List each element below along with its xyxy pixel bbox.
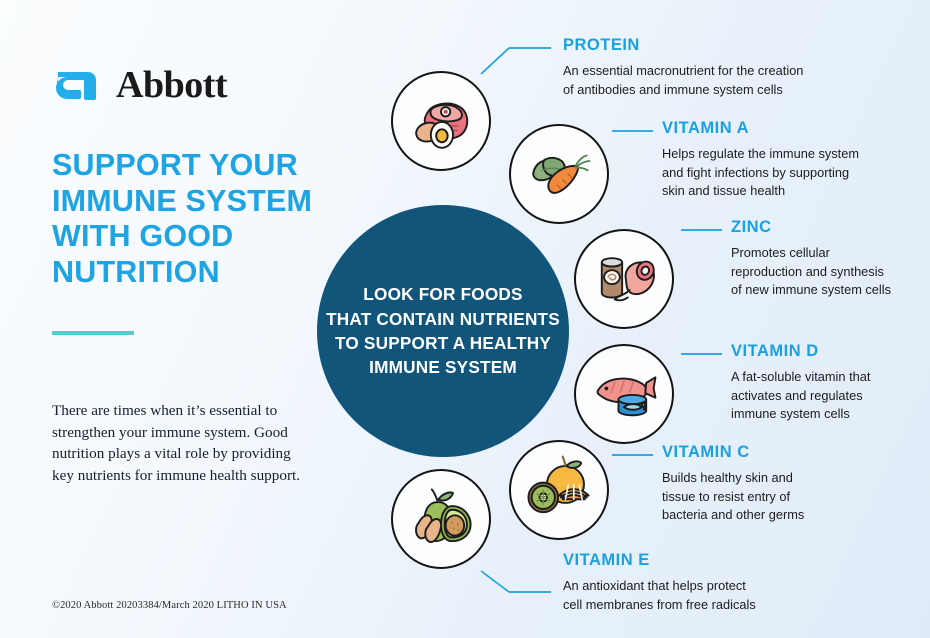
carrot-and-greens-icon xyxy=(522,137,596,211)
callout-title: VITAMIN A xyxy=(662,119,917,138)
callout-vitamin-d: VITAMIN D A fat-soluble vitamin that act… xyxy=(731,342,926,424)
nutrient-icon-zinc xyxy=(574,229,674,329)
callout-description: Helps regulate the immune system and fig… xyxy=(662,145,917,201)
steak-and-eggs-icon xyxy=(404,84,478,158)
fish-and-tuna-can-icon xyxy=(587,357,661,431)
callout-description: Promotes cellular reproduction and synth… xyxy=(731,244,926,300)
callout-title: VITAMIN E xyxy=(563,551,893,570)
callout-protein: PROTEIN An essential macronutrient for t… xyxy=(563,36,893,99)
nutrient-icon-protein xyxy=(391,71,491,171)
citrus-and-kiwi-icon xyxy=(522,453,596,527)
infographic-canvas: Abbott SUPPORT YOUR IMMUNE SYSTEM WITH G… xyxy=(0,0,930,638)
nutrient-icon-vitamin-a xyxy=(509,124,609,224)
callout-title: ZINC xyxy=(731,218,926,237)
callout-zinc: ZINC Promotes cellular reproduction and … xyxy=(731,218,926,300)
nutrient-icon-vitamin-d xyxy=(574,344,674,444)
callout-description: Builds healthy skin and tissue to resist… xyxy=(662,469,882,525)
callout-description: An essential macronutrient for the creat… xyxy=(563,62,893,99)
canned-beans-and-ham-icon xyxy=(587,242,661,316)
almonds-and-avocado-icon xyxy=(404,482,478,556)
nutrient-icon-vitamin-c xyxy=(509,440,609,540)
callout-title: VITAMIN C xyxy=(662,443,882,462)
callout-title: VITAMIN D xyxy=(731,342,926,361)
callout-description: A fat-soluble vitamin that activates and… xyxy=(731,368,926,424)
nutrient-icon-vitamin-e xyxy=(391,469,491,569)
callout-vitamin-e: VITAMIN E An antioxidant that helps prot… xyxy=(563,551,893,614)
callout-vitamin-a: VITAMIN A Helps regulate the immune syst… xyxy=(662,119,917,201)
callout-title: PROTEIN xyxy=(563,36,893,55)
callout-description: An antioxidant that helps protect cell m… xyxy=(563,577,893,614)
callout-vitamin-c: VITAMIN C Builds healthy skin and tissue… xyxy=(662,443,882,525)
